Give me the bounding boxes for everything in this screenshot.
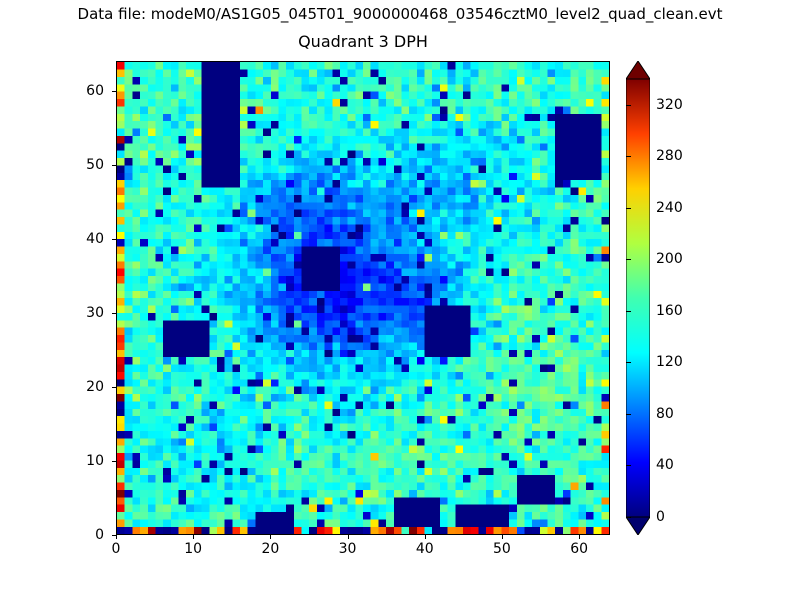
- y-tick-mark: [112, 535, 116, 536]
- heatmap-axes: [116, 61, 610, 535]
- x-tick-mark: [425, 535, 426, 539]
- colorbar-tick-label: 160: [656, 303, 683, 319]
- x-tick-label: 30: [339, 541, 357, 557]
- colorbar-tick-label: 200: [656, 251, 683, 267]
- colorbar-tick-label: 40: [656, 457, 674, 473]
- colorbar-tick-label: 120: [656, 354, 683, 370]
- colorbar-gradient: [626, 61, 650, 535]
- figure-suptitle: Data file: modeM0/AS1G05_045T01_90000004…: [0, 5, 800, 23]
- colorbar-tick-mark: [626, 208, 631, 209]
- y-tick-label: 60: [0, 83, 104, 99]
- colorbar[interactable]: [626, 61, 650, 535]
- x-tick-label: 0: [112, 541, 121, 557]
- colorbar-tick-label: 280: [656, 148, 683, 164]
- colorbar-tick-mark: [626, 414, 631, 415]
- colorbar-extend-max-arrow: [626, 61, 650, 79]
- y-tick-mark: [112, 461, 116, 462]
- x-tick-mark: [270, 535, 271, 539]
- heatmap-image: [117, 62, 609, 534]
- colorbar-tick-label: 80: [656, 406, 674, 422]
- x-tick-mark: [579, 535, 580, 539]
- y-tick-mark: [112, 313, 116, 314]
- colorbar-tick-mark: [626, 156, 631, 157]
- y-tick-label: 0: [0, 527, 104, 543]
- colorbar-tick-label: 320: [656, 97, 683, 113]
- y-tick-label: 20: [0, 379, 104, 395]
- x-tick-label: 20: [261, 541, 279, 557]
- y-tick-mark: [112, 239, 116, 240]
- x-tick-label: 50: [493, 541, 511, 557]
- y-tick-label: 50: [0, 157, 104, 173]
- colorbar-tick-mark: [626, 105, 631, 106]
- colorbar-extend-min-arrow: [626, 517, 650, 535]
- x-tick-label: 60: [570, 541, 588, 557]
- colorbar-tick-mark: [626, 362, 631, 363]
- y-tick-label: 40: [0, 231, 104, 247]
- y-tick-mark: [112, 165, 116, 166]
- colorbar-tick-mark: [626, 311, 631, 312]
- y-tick-mark: [112, 387, 116, 388]
- y-tick-label: 10: [0, 453, 104, 469]
- colorbar-tick-label: 240: [656, 200, 683, 216]
- x-tick-label: 40: [416, 541, 434, 557]
- y-tick-label: 30: [0, 305, 104, 321]
- x-tick-mark: [502, 535, 503, 539]
- x-tick-label: 10: [184, 541, 202, 557]
- x-tick-mark: [116, 535, 117, 539]
- axes-title: Quadrant 3 DPH: [116, 32, 610, 51]
- figure-canvas: Data file: modeM0/AS1G05_045T01_90000004…: [0, 0, 800, 600]
- x-tick-mark: [193, 535, 194, 539]
- colorbar-tick-mark: [626, 517, 631, 518]
- x-tick-mark: [348, 535, 349, 539]
- colorbar-body: [626, 79, 650, 517]
- colorbar-tick-mark: [626, 465, 631, 466]
- colorbar-tick-mark: [626, 259, 631, 260]
- y-tick-mark: [112, 91, 116, 92]
- colorbar-tick-label: 0: [656, 509, 665, 525]
